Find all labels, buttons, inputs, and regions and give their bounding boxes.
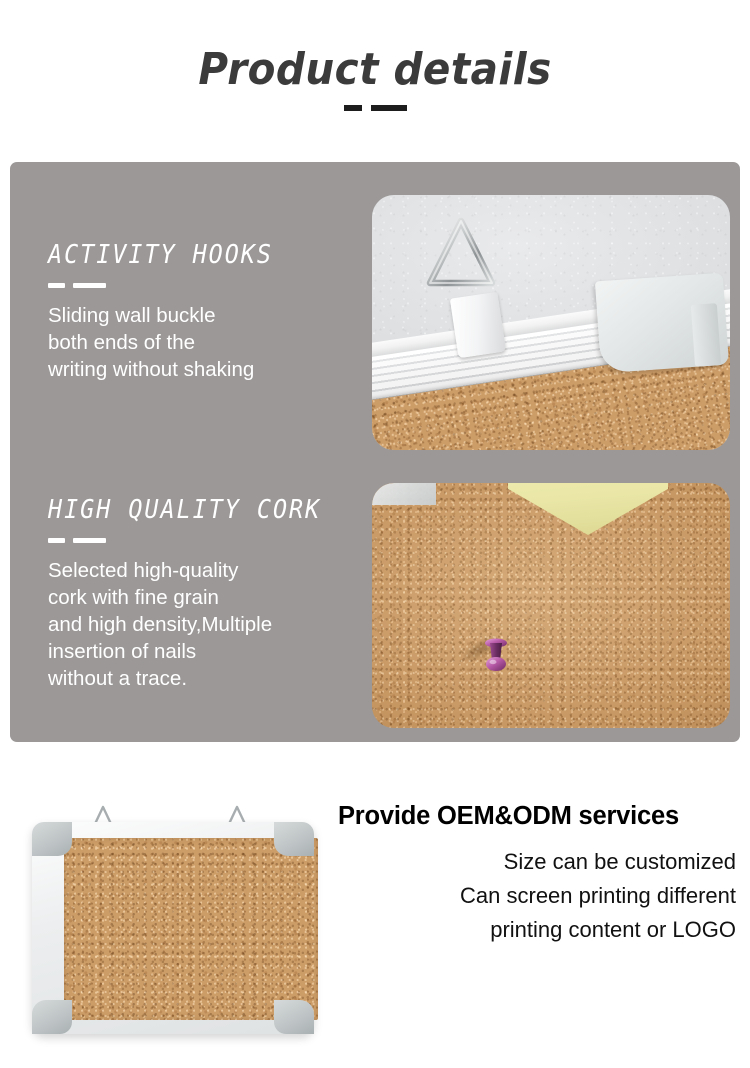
feature-body: Sliding wall buckle both ends of the wri… xyxy=(48,302,298,383)
divider-short-dash xyxy=(48,538,65,543)
feature-heading: HIGH QUALITY CORK xyxy=(48,495,321,525)
corner-cap xyxy=(595,273,729,374)
feature-panel: ACTIVITY HOOKS Sliding wall buckle both … xyxy=(10,162,740,742)
frame-corner-top-right xyxy=(274,822,314,856)
title-divider xyxy=(0,105,750,111)
feature-block-activity-hooks: ACTIVITY HOOKS Sliding wall buckle both … xyxy=(48,240,298,383)
product-photo-cork-board xyxy=(14,800,332,1048)
product-photo-activity-hooks xyxy=(372,195,730,450)
divider-long-dash xyxy=(371,105,407,111)
feature-divider xyxy=(48,283,298,288)
feature-body: Selected high-quality cork with fine gra… xyxy=(48,557,352,692)
oem-title: Provide OEM&ODM services xyxy=(338,802,736,831)
divider-long-dash xyxy=(73,283,106,288)
cork-vignette xyxy=(372,483,730,728)
oem-section: Provide OEM&ODM services Size can be cus… xyxy=(0,742,750,1068)
triangular-hook-icon xyxy=(424,215,498,297)
divider-long-dash xyxy=(73,538,106,543)
page-title: Product details xyxy=(30,44,720,95)
oem-description: Size can be customized Can screen printi… xyxy=(338,845,736,947)
feature-heading: ACTIVITY HOOKS xyxy=(48,240,273,270)
feature-block-high-quality-cork: HIGH QUALITY CORK Selected high-quality … xyxy=(48,495,352,692)
frame-corner-sliver xyxy=(372,483,436,505)
push-pin-icon xyxy=(479,635,513,675)
frame-corner-bottom-left xyxy=(32,1000,72,1034)
divider-short-dash xyxy=(48,283,65,288)
frame-corner-top-left xyxy=(32,822,72,856)
aluminium-frame xyxy=(32,822,314,1034)
frame-corner-bottom-right xyxy=(274,1000,314,1034)
oem-text-block: Provide OEM&ODM services Size can be cus… xyxy=(338,802,736,947)
sliding-buckle xyxy=(450,292,506,358)
feature-divider xyxy=(48,538,352,543)
product-photo-cork-surface xyxy=(372,483,730,728)
page-header: Product details xyxy=(0,0,750,162)
divider-short-dash xyxy=(344,105,362,111)
cork-surface xyxy=(64,838,318,1020)
